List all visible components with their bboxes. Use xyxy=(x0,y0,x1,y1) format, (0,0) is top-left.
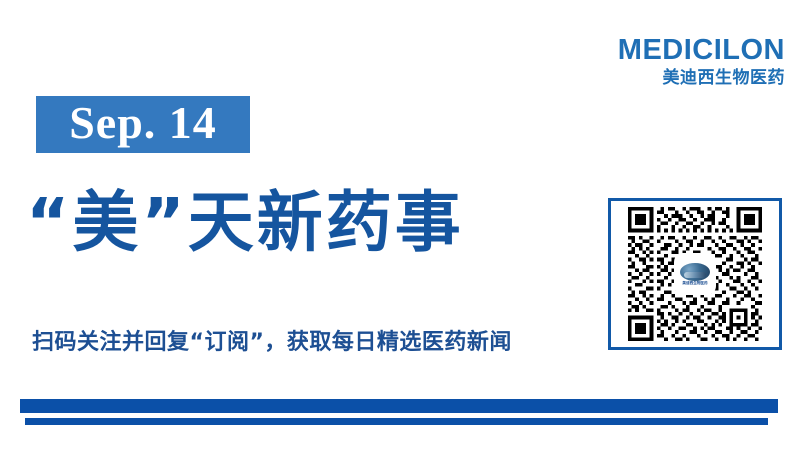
brand-name: MEDICILON xyxy=(595,36,785,65)
qr-code-frame[interactable]: 美迪西生物医药 xyxy=(608,198,782,350)
footer-bar-secondary xyxy=(25,418,768,425)
qr-center-logo: 美迪西生物医药 xyxy=(676,255,714,293)
footer-bar-primary xyxy=(20,399,778,413)
promo-poster: MEDICILON 美迪西生物医药 Sep. 14 “美”天新药事 扫码关注并回… xyxy=(0,0,800,468)
qr-code-canvas: 美迪西生物医药 xyxy=(628,207,762,341)
qr-center-logo-image xyxy=(680,263,710,281)
brand-logo: MEDICILON 美迪西生物医药 xyxy=(595,36,785,87)
qr-center-logo-label: 美迪西生物医药 xyxy=(682,282,707,286)
subtitle-text: 扫码关注并回复“订阅”，获取每日精选医药新闻 xyxy=(32,330,512,356)
date-badge-label: Sep. 14 xyxy=(69,100,217,146)
page-title: “美”天新药事 xyxy=(26,186,464,260)
brand-name-chinese: 美迪西生物医药 xyxy=(595,70,785,87)
date-badge: Sep. 14 xyxy=(36,96,250,153)
